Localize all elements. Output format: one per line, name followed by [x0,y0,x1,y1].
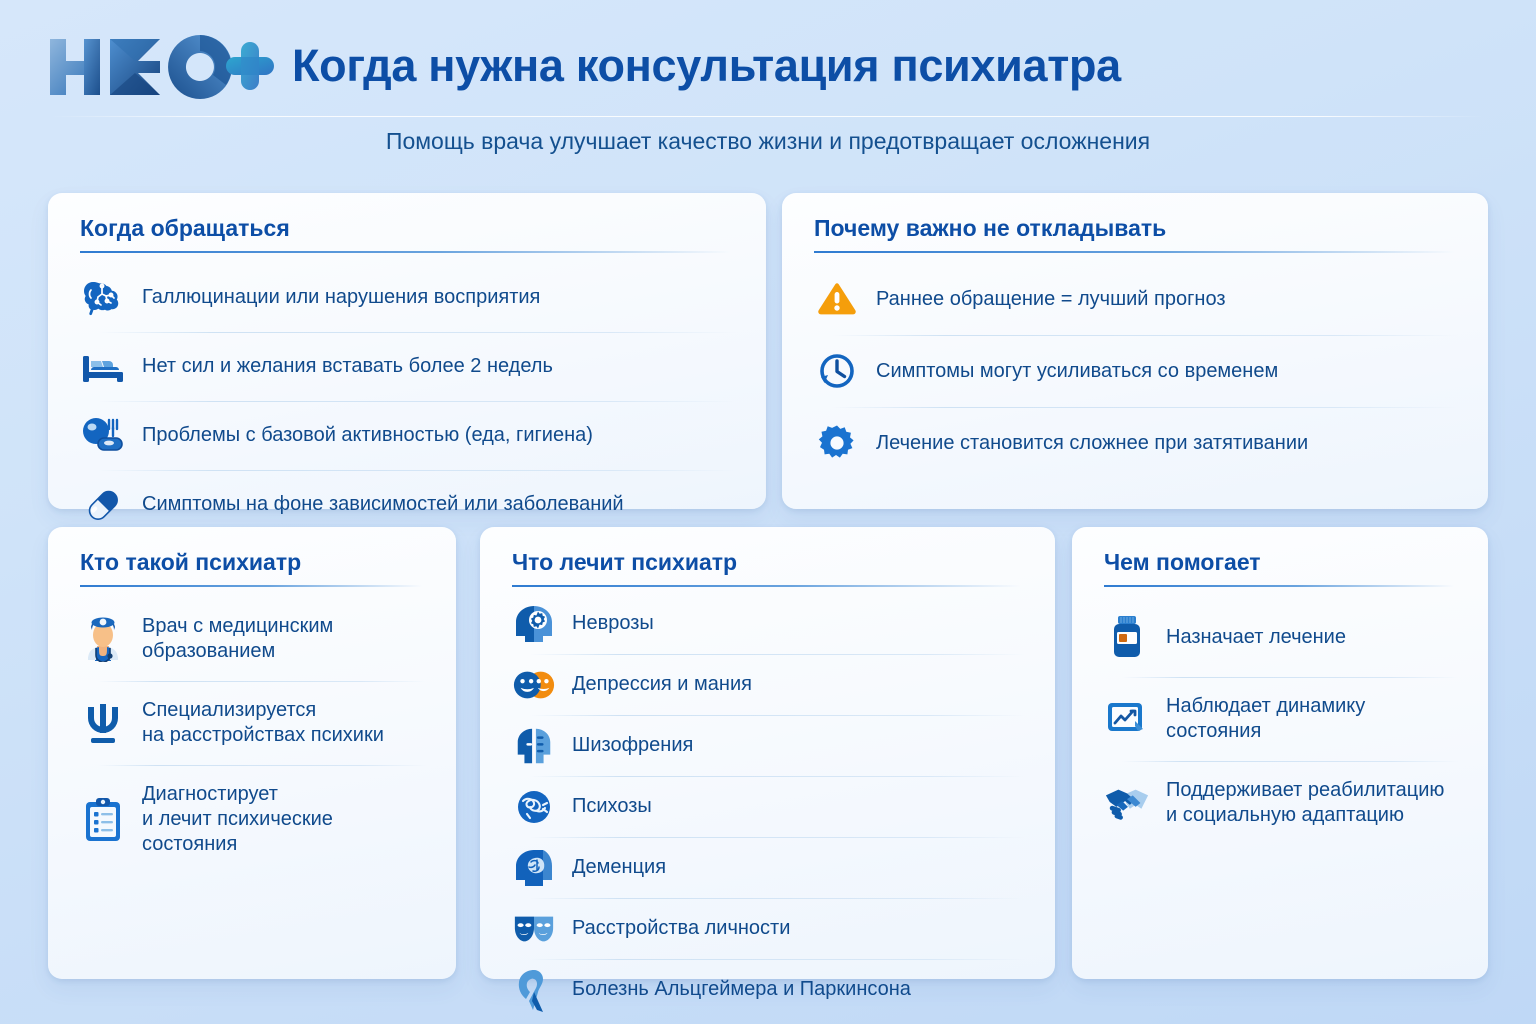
card-title-divider [512,585,1020,587]
list-item[interactable]: Назначает лечение [1104,597,1462,677]
list-item-label: Шизофрения [572,733,693,758]
card-item-list: Назначает лечение Наблюдает динамику сос… [1104,597,1462,845]
card-title: Когда обращаться [80,215,290,242]
masks-icon [512,907,556,951]
card-title-divider [80,251,730,253]
card-title-divider [1104,585,1454,587]
list-item-label: Лечение становится сложнее при затятиван… [876,431,1308,456]
list-item[interactable]: Нет сил и желания вставать более 2 недел… [80,332,740,401]
pill-bottle-icon [1104,614,1150,660]
list-item-label: Симптомы могут усиливаться со временем [876,359,1278,384]
meal-icon [80,413,126,459]
list-item-label: Симптомы на фоне зависимостей или заболе… [142,492,624,517]
card-title: Кто такой психиатр [80,549,301,576]
list-item-label: Врач с медицинскимобразованием [142,614,333,664]
neo-plus-logo [48,33,276,101]
list-item-label: Галлюцинации или нарушения восприятия [142,285,540,310]
head-brain-icon [512,846,556,890]
list-item[interactable]: Раннее обращение = лучший прогноз [814,263,1462,335]
capsule-icon [80,482,126,528]
card-item-list: Раннее обращение = лучший прогноз Симпто… [814,263,1462,479]
list-item-label: Болезнь Альцгеймера и Паркинсона [572,977,911,1002]
page-subtitle: Помощь врача улучшает качество жизни и п… [0,128,1536,155]
clipboard-icon [80,797,126,843]
list-item[interactable]: Наблюдает динамику состояния [1104,677,1462,761]
header-divider [50,116,1486,117]
list-item[interactable]: Болезнь Альцгеймера и Паркинсона [512,959,1029,1020]
list-item[interactable]: Диагностируети лечит психические состоян… [80,765,430,874]
two-faces-icon [512,663,556,707]
list-item[interactable]: Галлюцинации или нарушения восприятия [80,263,740,332]
list-item-label: Неврозы [572,611,654,636]
gear-icon [814,420,860,466]
bed-icon [80,344,126,390]
list-item-label: Наблюдает динамику состояния [1166,694,1462,744]
tangled-head-icon [512,785,556,829]
list-item-label: Расстройства личности [572,916,790,941]
list-item[interactable]: Поддерживает реабилитациюи социальную ад… [1104,761,1462,845]
brain-icon [80,275,126,321]
card-what-psychiatrist-treats: Что лечит психиатр Неврозы Депрессия и м… [480,527,1055,979]
list-item[interactable]: Шизофрения [512,715,1029,776]
card-title-divider [814,251,1454,253]
list-item[interactable]: Психозы [512,776,1029,837]
list-item-label: Диагностируети лечит психические состоян… [142,782,430,857]
list-item-label: Деменция [572,855,666,880]
list-item-label: Раннее обращение = лучший прогноз [876,287,1226,312]
list-item[interactable]: Проблемы с базовой активностью (еда, гиг… [80,401,740,470]
card-why-not-delay: Почему важно не откладывать Раннее обращ… [782,193,1488,509]
list-item-label: Назначает лечение [1166,625,1346,650]
list-item[interactable]: Симптомы могут усиливаться со временем [814,335,1462,407]
list-item-label: Специализируетсяна расстройствах психики [142,698,384,748]
list-item[interactable]: Специализируетсяна расстройствах психики [80,681,430,765]
list-item-label: Проблемы с базовой активностью (еда, гиг… [142,423,593,448]
chart-board-icon [1104,696,1150,742]
list-item-label: Депрессия и мания [572,672,752,697]
card-how-it-helps: Чем помогает Назначает лечение Наблюдает… [1072,527,1488,979]
doctor-icon [80,616,126,662]
card-title: Чем помогает [1104,549,1261,576]
ribbon-icon [512,968,556,1012]
list-item-label: Нет сил и желания вставать более 2 недел… [142,354,553,379]
card-who-is-psychiatrist: Кто такой психиатр Врач с медицинскимобр… [48,527,456,979]
list-item[interactable]: Неврозы [512,593,1029,654]
card-item-list: Врач с медицинскимобразованием Специализ… [80,597,430,874]
psi-icon [80,700,126,746]
card-when-to-seek-help: Когда обращаться Галлюцинации или наруше… [48,193,766,509]
list-item[interactable]: Врач с медицинскимобразованием [80,597,430,681]
list-item-label: Психозы [572,794,652,819]
split-head-icon [512,724,556,768]
clock-icon [814,348,860,394]
list-item[interactable]: Деменция [512,837,1029,898]
handshake-icon [1104,780,1150,826]
card-title-divider [80,585,422,587]
head-gear-icon [512,602,556,646]
list-item[interactable]: Лечение становится сложнее при затятиван… [814,407,1462,479]
card-title: Почему важно не откладывать [814,215,1166,242]
page-title: Когда нужна консультация психиатра [292,40,1121,92]
card-title: Что лечит психиатр [512,549,737,576]
card-item-list: Галлюцинации или нарушения восприятия Не… [80,263,740,539]
list-item[interactable]: Расстройства личности [512,898,1029,959]
warning-triangle-icon [814,276,860,322]
list-item[interactable]: Депрессия и мания [512,654,1029,715]
list-item-label: Поддерживает реабилитациюи социальную ад… [1166,778,1444,828]
page-header: Когда нужна консультация психиатра Помощ… [0,0,1536,170]
card-item-list: Неврозы Депрессия и мания Шизофрения Пси… [512,593,1029,1020]
